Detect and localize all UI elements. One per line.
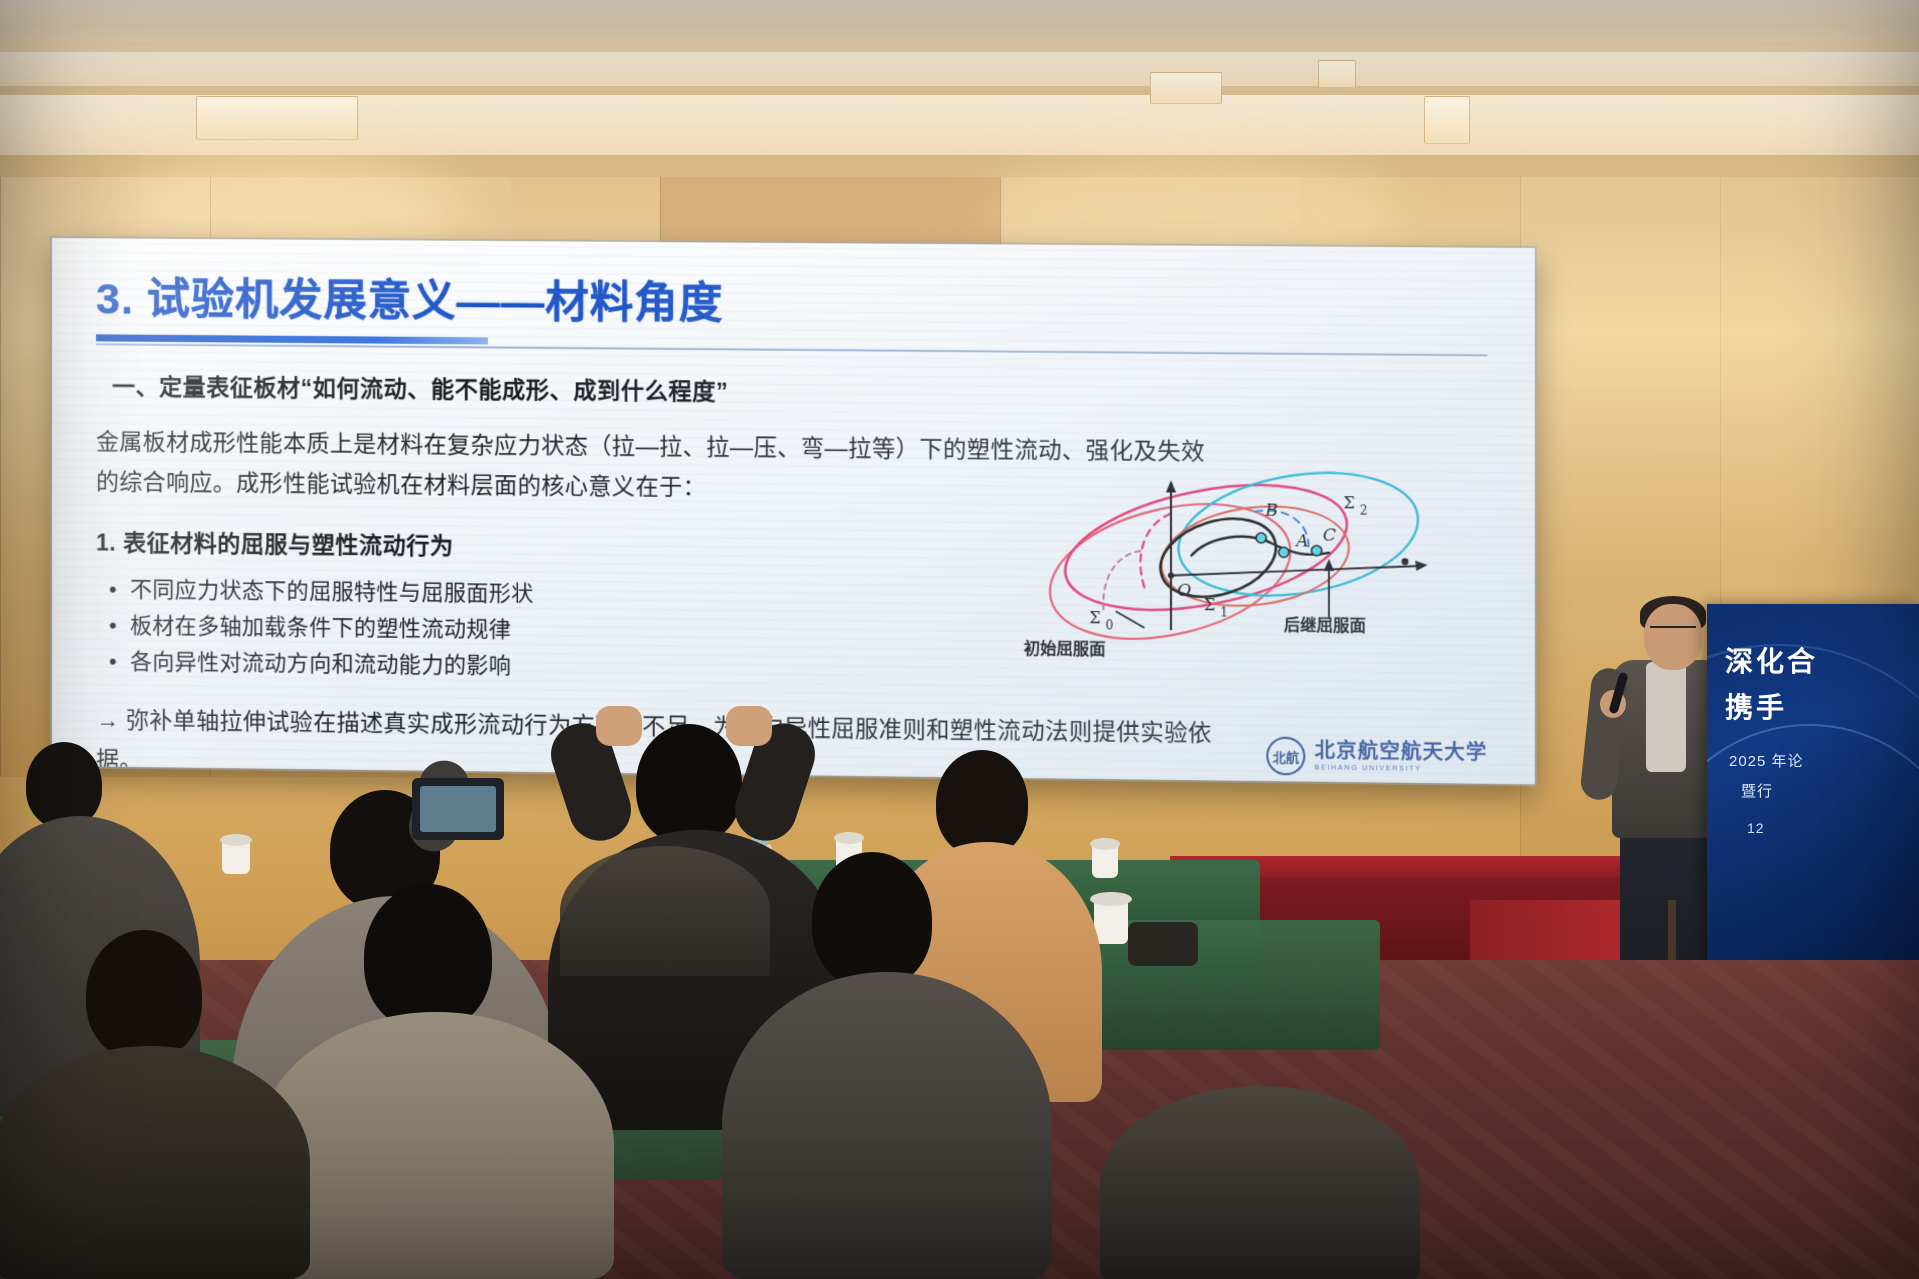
audience-head (812, 852, 932, 988)
yield-surface-figure: B A C O Σ 2 Σ 1 Σ 0 初始屈服面 后继屈服面 (991, 456, 1504, 654)
figure-caption-subsequent: 后继屈服面 (1284, 611, 1366, 636)
ceiling-light-2 (1150, 72, 1222, 104)
laptop-icon (1128, 922, 1198, 966)
yield-surface-svg: B A C O Σ 2 Σ 1 Σ 0 (991, 456, 1504, 654)
bullet-text: 板材在多轴加载条件下的塑性流动规律 (130, 608, 511, 648)
teacup-3 (1094, 900, 1128, 944)
logo-name: 北京航空航天大学 (1315, 741, 1488, 763)
audience-body (258, 1012, 614, 1279)
figure-label-sigma2: Σ (1343, 493, 1355, 512)
audience-body (722, 972, 1052, 1279)
ceiling-reveal (0, 86, 1919, 95)
banner-subtitle-2: 暨行 (1741, 780, 1773, 801)
ceiling-soffit-top (0, 0, 1919, 26)
audience-hand-left (596, 706, 642, 746)
ceiling-light-3 (1424, 96, 1470, 144)
banner-date: 12 (1747, 820, 1765, 836)
bullet-dot-icon: • (96, 607, 130, 643)
audience-body (0, 1046, 310, 1279)
logo-emblem-icon: 北航 (1266, 737, 1305, 776)
slide-title: 3. 试验机发展意义——材料角度 (96, 264, 1500, 337)
chair-back-1 (560, 846, 770, 976)
slide-content: 3. 试验机发展意义——材料角度 一、定量表征板材“如何流动、能不能成形、成到什… (52, 238, 1535, 784)
audience-head (86, 930, 202, 1060)
figure-label-sigma0: Σ (1089, 608, 1101, 627)
figure-label-B: B (1264, 500, 1278, 520)
presenter-shirt (1646, 662, 1686, 772)
figure-label-sigma1: Σ (1204, 595, 1216, 614)
figure-label-O: O (1177, 581, 1191, 601)
ceiling-band-1 (0, 26, 1919, 42)
logo-subtitle: BEIHANG UNIVERSITY (1315, 764, 1488, 773)
conference-banner: 深化合 携手 2025 年论 暨行 12 (1707, 604, 1919, 984)
bullet-dot-icon: • (96, 571, 130, 607)
teacup-lid-2 (1090, 838, 1120, 850)
figure-label-sigma0-sub: 0 (1106, 618, 1114, 632)
audience-head (26, 742, 102, 828)
banner-headline-2: 携手 (1725, 686, 1787, 726)
banner-subtitle-1: 2025 年论 (1729, 750, 1804, 771)
photo-scene: 3. 试验机发展意义——材料角度 一、定量表征板材“如何流动、能不能成形、成到什… (0, 0, 1919, 1279)
audience-hand-right (726, 706, 772, 746)
presenter-glasses-icon (1650, 626, 1696, 639)
figure-label-C: C (1323, 525, 1336, 545)
smartphone-screen (420, 786, 496, 832)
banner-headline-1: 深化合 (1725, 640, 1818, 680)
bullet-text: 各向异性对流动方向和流动能力的影响 (130, 644, 511, 684)
university-logo: 北航 北京航空航天大学 BEIHANG UNIVERSITY (1266, 737, 1487, 778)
bullet-text: 不同应力状态下的屈服特性与屈服面形状 (130, 572, 534, 612)
ceiling-soffit-2 (0, 52, 1919, 86)
audience-head (364, 884, 492, 1030)
teacup-lid-4 (220, 834, 252, 846)
figure-caption-initial: 初始屈服面 (1024, 635, 1106, 660)
figure-label-sigma1-sub: 1 (1220, 605, 1228, 619)
audience-head (936, 750, 1028, 856)
slide-subheading: 一、定量表征板材“如何流动、能不能成形、成到什么程度” (96, 367, 1500, 413)
bullet-dot-icon: • (96, 643, 130, 679)
title-underline-thin (96, 343, 1487, 356)
figure-label-A: A (1294, 531, 1309, 551)
ceiling-light-4 (1318, 60, 1356, 88)
figure-label-sigma2-sub: 2 (1360, 503, 1368, 517)
teacup-lid-1 (834, 832, 864, 844)
ceiling-light-1 (196, 96, 358, 140)
projection-screen: 3. 试验机发展意义——材料角度 一、定量表征板材“如何流动、能不能成形、成到什… (52, 238, 1535, 784)
audience-head (636, 724, 742, 844)
audience-body (1100, 1086, 1420, 1279)
teacup-lid-3 (1090, 892, 1132, 906)
